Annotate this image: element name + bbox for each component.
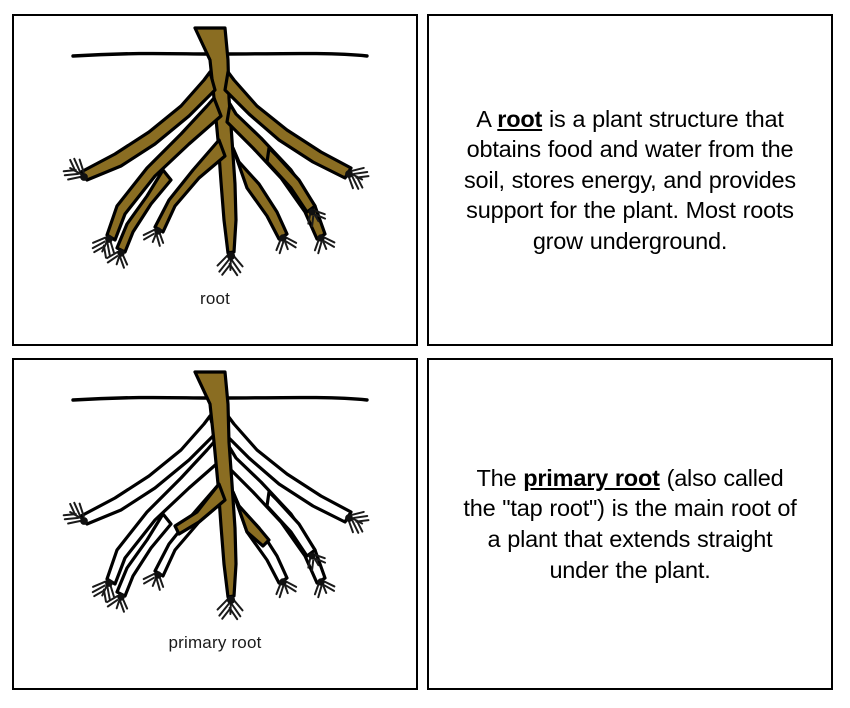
picture-card-primary-root-content: primary root: [14, 360, 416, 688]
definition-term: root: [497, 106, 542, 132]
picture-card-primary-root[interactable]: primary root: [12, 358, 418, 690]
picture-card-root-content: root: [14, 16, 416, 344]
definition-text-root: A root is a plant structure that obtains…: [455, 104, 805, 257]
picture-card-root[interactable]: root: [12, 14, 418, 346]
root-diagram-taproot-highlighted-icon: [29, 364, 401, 632]
definition-card-root-content: A root is a plant structure that obtains…: [429, 16, 831, 344]
definition-card-primary-root[interactable]: The primary root (also called the "tap r…: [427, 358, 833, 690]
definition-term: primary root: [523, 465, 660, 491]
figure-caption: root: [200, 290, 230, 307]
definition-text-before: The: [476, 465, 523, 491]
root-diagram-all-brown-icon: [29, 20, 401, 288]
definition-card-root[interactable]: A root is a plant structure that obtains…: [427, 14, 833, 346]
definition-card-primary-root-content: The primary root (also called the "tap r…: [429, 360, 831, 688]
definition-text-primary-root: The primary root (also called the "tap r…: [459, 463, 801, 585]
nomenclature-card-sheet: root A root is a plant structure that ob…: [0, 0, 850, 708]
figure-caption: primary root: [168, 634, 261, 651]
definition-text-before: A: [476, 106, 497, 132]
